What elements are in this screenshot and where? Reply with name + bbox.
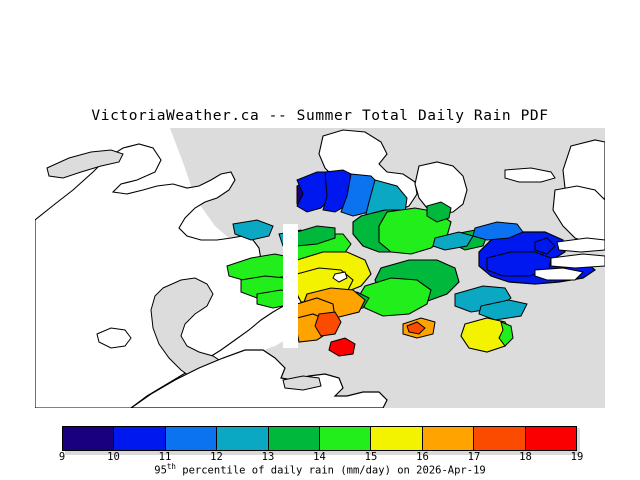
- screenshot-root: VictoriaWeather.ca -- Summer Total Daily…: [0, 0, 640, 480]
- rain-map: [35, 128, 605, 408]
- colorbar-band-10-11: [114, 427, 165, 450]
- colorbar-band-14-15: [320, 427, 371, 450]
- colorbar: [62, 426, 577, 451]
- caption-ordinal: th: [167, 462, 176, 471]
- colorbar-band-17-18: [474, 427, 525, 450]
- colorbar-band-9-10: [63, 427, 114, 450]
- colorbar-caption: 95th percentile of daily rain (mm/day) o…: [0, 462, 640, 477]
- colorbar-band-11-12: [166, 427, 217, 450]
- colorbar-band-16-17: [423, 427, 474, 450]
- colorbar-band-12-13: [217, 427, 268, 450]
- caption-suffix: percentile of daily rain (mm/day) on 202…: [176, 465, 486, 477]
- colorbar-band-18-19: [526, 427, 576, 450]
- page-title: VictoriaWeather.ca -- Summer Total Daily…: [0, 108, 640, 124]
- colorbar-band-13-14: [269, 427, 320, 450]
- caption-prefix: 95: [154, 465, 167, 477]
- colorbar-band-15-16: [371, 427, 422, 450]
- domain-left-cutoff: [283, 224, 298, 348]
